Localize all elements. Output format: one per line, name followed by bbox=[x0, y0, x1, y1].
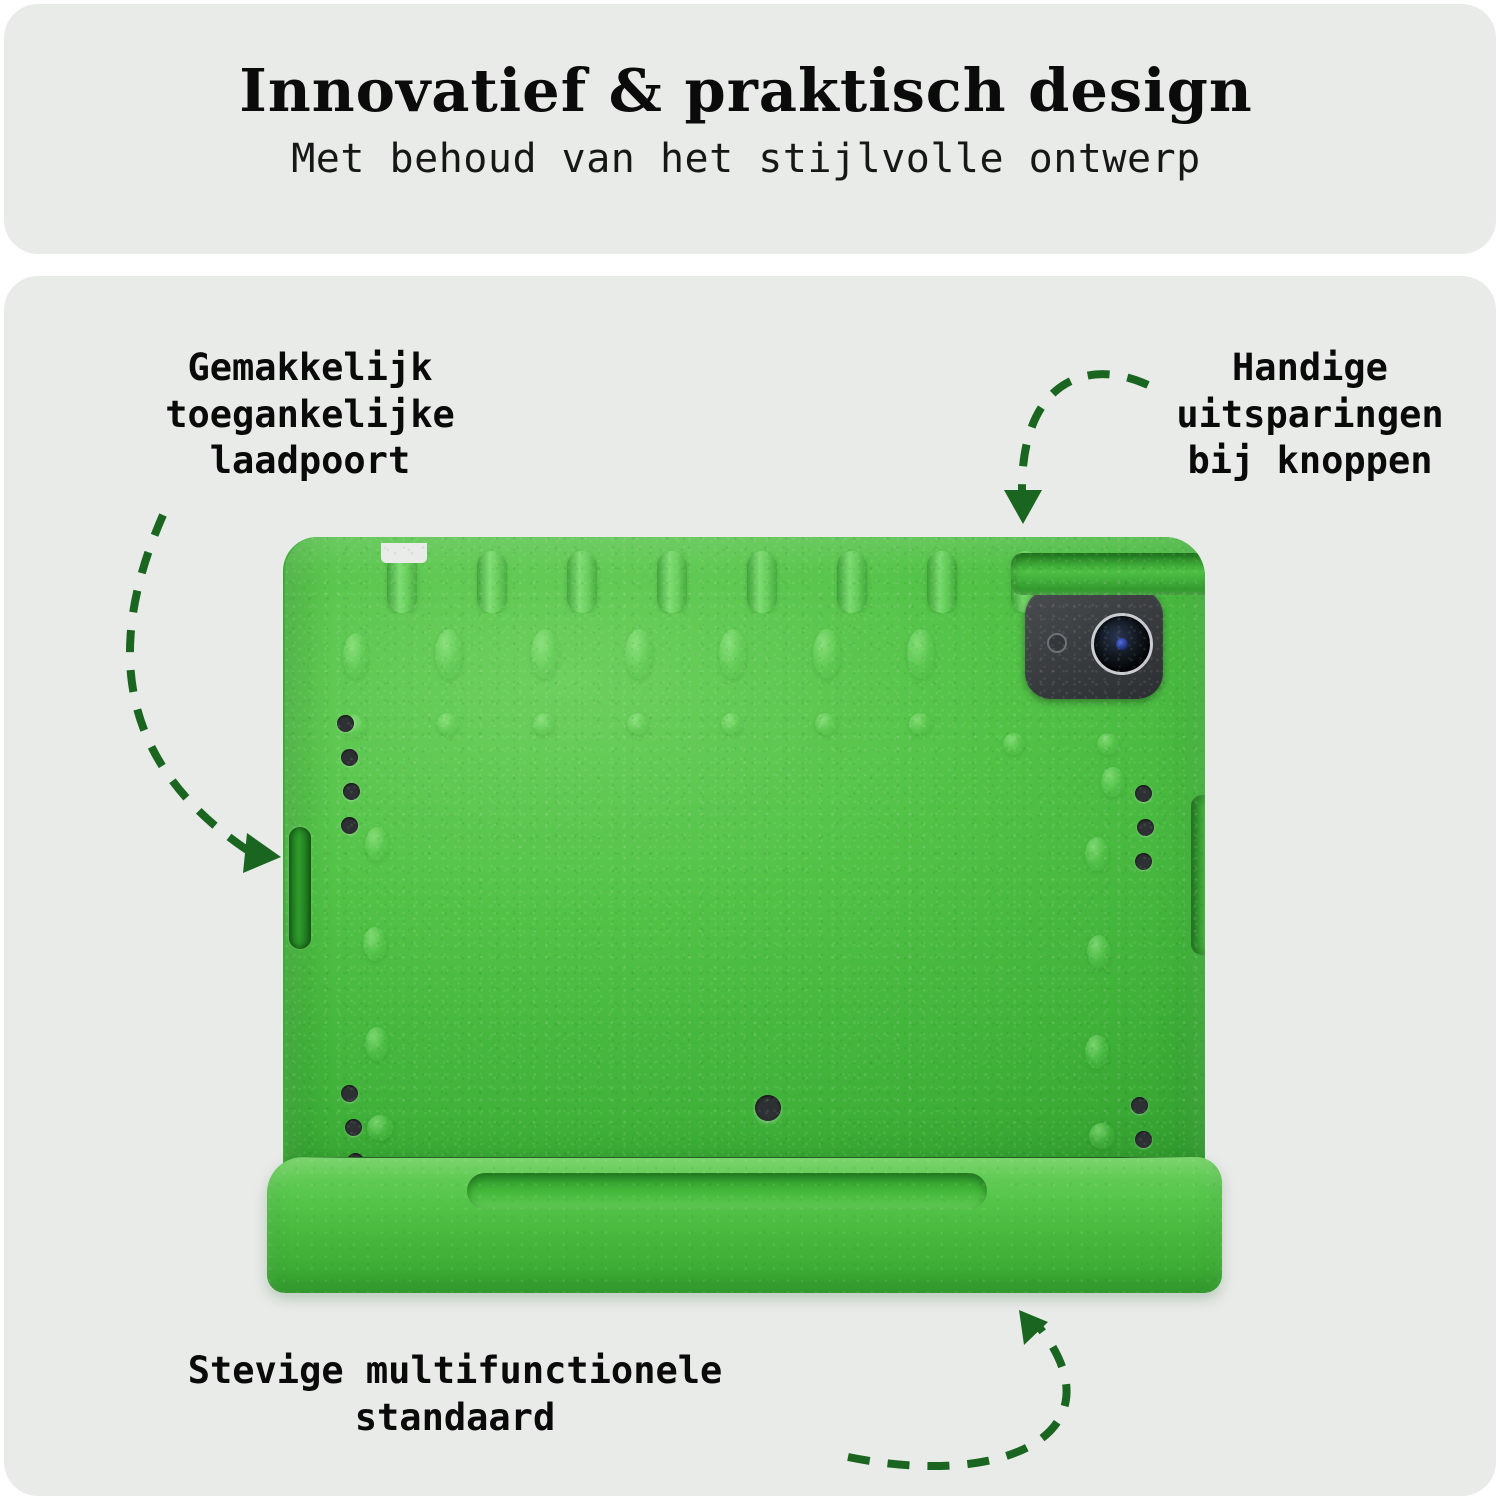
handle-grip-slot bbox=[467, 1173, 987, 1209]
right-button-cutout bbox=[1191, 795, 1205, 955]
infographic-canvas: Innovatief & praktisch design Met behoud… bbox=[0, 0, 1500, 1500]
flash-sensor-icon bbox=[1047, 633, 1067, 653]
microphone-hole bbox=[755, 1095, 781, 1121]
camera-lens-icon bbox=[1091, 613, 1153, 675]
speaker-hole bbox=[341, 1085, 358, 1102]
header-panel bbox=[4, 4, 1496, 254]
speaker-hole bbox=[337, 715, 354, 732]
speaker-hole bbox=[1131, 1097, 1148, 1114]
speaker-hole bbox=[1137, 819, 1154, 836]
speaker-hole bbox=[343, 783, 360, 800]
speaker-hole bbox=[1135, 1131, 1152, 1148]
speaker-hole bbox=[341, 817, 358, 834]
speaker-hole bbox=[345, 1119, 362, 1136]
case-back-body bbox=[285, 537, 1205, 1192]
charging-port-cutout bbox=[289, 827, 311, 949]
speaker-hole bbox=[1135, 853, 1152, 870]
callout-charging-port-label: Gemakkelijk toegankelijke laadpoort bbox=[60, 345, 560, 485]
callout-stand-label: Stevige multifunctionele standaard bbox=[60, 1348, 850, 1441]
speaker-hole bbox=[1135, 785, 1152, 802]
page-title: Innovatief & praktisch design bbox=[0, 56, 1492, 125]
stand-seam bbox=[291, 1157, 1191, 1158]
tablet-case-illustration bbox=[253, 527, 1233, 1287]
page-subtitle: Met behoud van het stijlvolle ontwerp bbox=[0, 136, 1492, 182]
case-top-ridges bbox=[317, 547, 1205, 613]
camera-module bbox=[1025, 589, 1163, 699]
callout-button-cutouts-label: Handige uitsparingen bij knoppen bbox=[1120, 345, 1500, 485]
foldable-stand bbox=[267, 1157, 1222, 1293]
case-top-notch bbox=[381, 543, 427, 563]
top-button-cutout bbox=[1011, 553, 1205, 595]
speaker-hole bbox=[341, 749, 358, 766]
